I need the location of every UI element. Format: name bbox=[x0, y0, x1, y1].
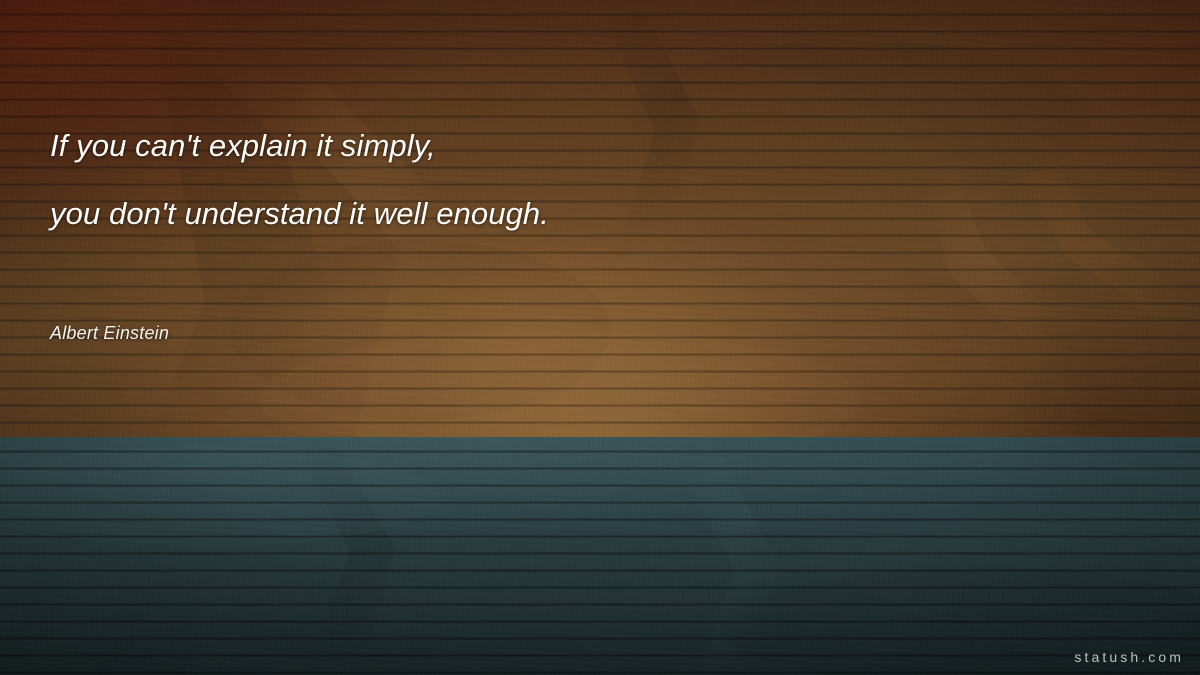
quote-author: Albert Einstein bbox=[50, 320, 169, 346]
quote-text: If you can't explain it simply, you don'… bbox=[50, 112, 1130, 248]
background-lower-panel bbox=[0, 437, 1200, 675]
teal-sheen-overlay bbox=[0, 437, 1200, 675]
site-watermark: statush.com bbox=[1074, 649, 1184, 665]
quote-line-2: you don't understand it well enough. bbox=[50, 180, 1130, 248]
quote-card: If you can't explain it simply, you don'… bbox=[0, 0, 1200, 675]
quote-line-1: If you can't explain it simply, bbox=[50, 112, 1130, 180]
